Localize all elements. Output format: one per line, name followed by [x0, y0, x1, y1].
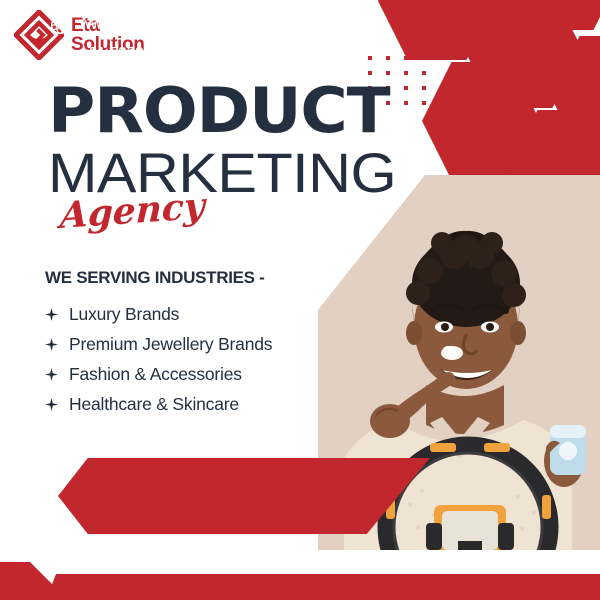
industry-item: Luxury Brands: [45, 304, 345, 325]
bottom-band: [0, 574, 600, 600]
hexagon-shape: [378, 0, 496, 60]
industries-title: WE SERVING INDUSTRIES -: [45, 268, 345, 288]
four-point-star-icon: [45, 368, 58, 381]
industry-item: Healthcare & Skincare: [45, 394, 345, 415]
globe-icon: [50, 15, 70, 35]
poster-canvas: Eta Solution PRODUCT MARKETING Agency WE…: [0, 0, 600, 600]
contact-details: www.etasolution.in +91 73838 91097: [50, 12, 205, 70]
contact-website-row[interactable]: www.etasolution.in: [50, 12, 205, 38]
contact-website-text: www.etasolution.in: [80, 16, 205, 34]
industry-label: Healthcare & Skincare: [69, 394, 239, 415]
hexagon-shape: [505, 0, 600, 30]
four-point-star-icon: [45, 308, 58, 321]
industry-label: Premium Jewellery Brands: [69, 334, 272, 355]
four-point-star-icon: [45, 338, 58, 351]
grid-dot: [404, 56, 408, 60]
contact-phone-text: +91 73838 91097: [80, 45, 198, 63]
contact-phone-row[interactable]: +91 73838 91097: [50, 41, 205, 67]
grid-dot: [368, 56, 372, 60]
contact-bar: [58, 458, 430, 534]
grid-dot: [386, 56, 390, 60]
hexagon-shape: [550, 36, 600, 154]
headline-block: PRODUCT MARKETING Agency: [48, 80, 468, 204]
headline-script-agency: Agency: [59, 188, 205, 234]
grid-dot: [422, 56, 426, 60]
industries-block: WE SERVING INDUSTRIES - Luxury BrandsPre…: [45, 268, 345, 424]
industry-item: Fashion & Accessories: [45, 364, 345, 385]
grid-dot: [422, 71, 426, 75]
industry-label: Fashion & Accessories: [69, 364, 242, 385]
four-point-star-icon: [45, 398, 58, 411]
phone-icon: [50, 44, 70, 64]
industry-item: Premium Jewellery Brands: [45, 334, 345, 355]
industry-label: Luxury Brands: [69, 304, 179, 325]
industries-list: Luxury BrandsPremium Jewellery BrandsFas…: [45, 304, 345, 415]
grid-dot: [404, 71, 408, 75]
headline-line-product: PRODUCT: [48, 80, 485, 142]
